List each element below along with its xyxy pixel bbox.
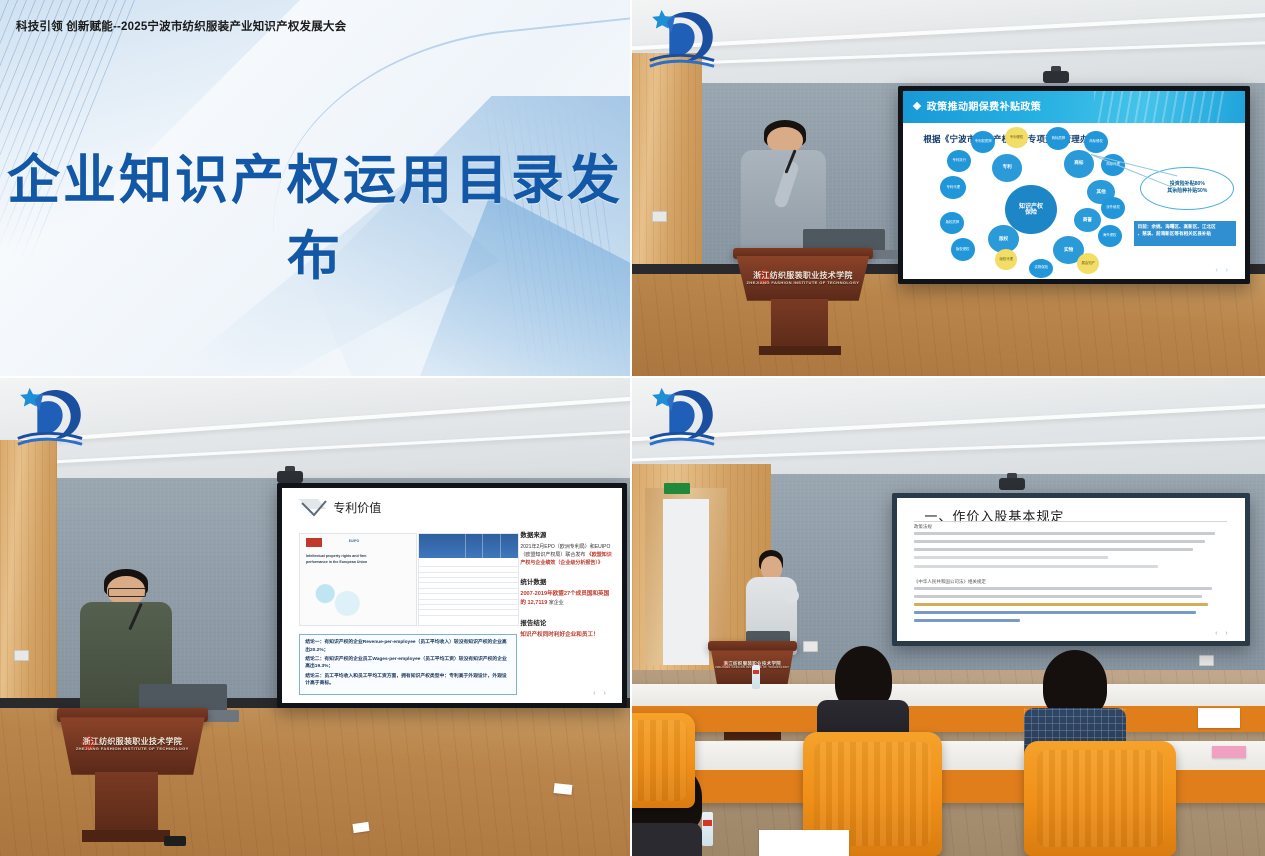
report-thumbnail-artwork	[307, 578, 372, 620]
table-col-divider	[500, 534, 501, 557]
podium-stem	[95, 772, 158, 834]
report-thumbnail-caption: Intellectual property rights and firm pe…	[306, 554, 378, 565]
text-line	[914, 548, 1193, 551]
slide-body-block-2	[914, 587, 1227, 627]
wall-socket	[14, 650, 29, 661]
mindmap-leaf-node-alt: 专利侵权	[1005, 127, 1027, 148]
photo-collage: 科技引领 创新赋能--2025宁波市纺织服装产业知识产权发展大会 企业知识产权运…	[0, 0, 1265, 856]
panel-photo-speaker-patent-value: 专利价值 EUIPO Intellectual property rights …	[0, 378, 632, 856]
zjfit-logo-icon	[642, 4, 720, 76]
projection-screen-frame: 专利价值 EUIPO Intellectual property rights …	[277, 483, 627, 708]
open-door-gap	[663, 499, 709, 665]
projection-screen: 一、作价入股基本规定 政策法规 《中华人民共和国公司法》相关规定	[897, 498, 1245, 641]
doorway	[645, 488, 727, 665]
podium-base	[724, 732, 781, 741]
text-line	[914, 540, 1205, 543]
slide-pager[interactable]: ‹ ›	[593, 690, 609, 697]
mindmap-leaf-node: 海外侵权	[1098, 225, 1122, 248]
text-line	[914, 565, 1158, 568]
podium-name-cn: 浙江纺织服装职业技术学院	[753, 271, 853, 280]
podium-base	[759, 346, 841, 355]
text-line	[914, 532, 1215, 535]
ceiling	[632, 0, 1265, 90]
projection-screen: 专利价值 EUIPO Intellectual property rights …	[282, 488, 622, 703]
callout-line-2: 其余险种补贴50%	[1167, 188, 1207, 196]
exit-sign	[664, 483, 690, 494]
ceiling-projector	[277, 471, 303, 483]
zjfit-logo-icon	[642, 382, 720, 454]
wood-wall-panel	[632, 53, 702, 279]
mindmap-leaf-node: 专利代理	[940, 176, 966, 199]
table-header	[419, 534, 518, 557]
podium-front: 浙江纺织服装职业技术学院 ZHEJIANG FASHION INSTITUTE …	[60, 717, 205, 774]
mindmap-leaf-node: 版权侵权	[951, 238, 975, 261]
text-line	[914, 587, 1212, 590]
conclusions-box: 结论一：有知识产权的企业Revenue-per-employee（员工平均收入）…	[299, 634, 517, 695]
mindmap-leaf-node: 专利权质押	[971, 131, 995, 154]
section-body-conclusion: 知识产权同时利好企业和员工！	[520, 631, 612, 640]
subsidy-callout: 投资险补贴80% 其余险种补贴50%	[1140, 167, 1234, 210]
conference-table-back	[632, 684, 1265, 732]
podium-name-cn: 浙江纺织服装职业技术学院	[82, 737, 182, 746]
report-data-table	[418, 533, 519, 625]
table-row	[419, 610, 518, 616]
text-line-highlight	[914, 619, 1021, 622]
podium-base	[82, 830, 170, 842]
mindmap-leaf-node: 商标质押	[1046, 127, 1070, 150]
conference-room-scene-3: 一、作价入股基本规定 政策法规 《中华人民共和国公司法》相关规定	[632, 378, 1265, 856]
table-col-divider	[482, 534, 483, 557]
podium-name-en: ZHEJIANG FASHION INSTITUTE OF TECHNOLOGY	[60, 747, 205, 752]
epo-logo-icon	[306, 538, 322, 547]
mindmap-leaf-node: 涉外维权	[1101, 197, 1125, 220]
podium-front: 浙江纺织服装职业技术学院 ZHEJIANG FASHION INSTITUTE …	[736, 256, 869, 301]
text-line-highlight	[914, 611, 1196, 614]
conclusion-2: 结论二：有知识产权的企业员工Wages-per-employee（员工平均工资）…	[305, 656, 511, 671]
projection-screen: 政策推动期保费补贴政策 根据《宁波市知识产权战略专项资金管理办法》 知识产权保险…	[903, 91, 1245, 279]
podium-top	[708, 641, 797, 652]
zjfit-logo-icon	[10, 382, 88, 454]
page-title: 企业知识产权运用目录发布	[0, 138, 630, 290]
ceiling	[0, 378, 630, 488]
podium-stem	[771, 299, 828, 352]
slide-right-column: 数据来源 2021年2月EPO（欧洲专利局）和EUIPO（欧盟知识产权局）联合发…	[520, 529, 612, 649]
slide-subhead-2: 《中华人民共和国公司法》相关规定	[914, 579, 986, 585]
mindmap-leaf-node: 商标侵权	[1084, 131, 1108, 154]
slide-title: 专利价值	[333, 499, 381, 516]
slide-equity-rules: 一、作价入股基本规定 政策法规 《中华人民共和国公司法》相关规定	[897, 498, 1245, 641]
conference-header-banner: 科技引领 创新赋能--2025宁波市纺织服装产业知识产权发展大会	[16, 18, 346, 34]
water-bottle	[752, 665, 760, 689]
slide-title: 政策推动期保费补贴政策	[927, 98, 1041, 113]
region-line-2: 、慈溪、前湾新区等有相关区县补贴	[1138, 231, 1233, 238]
conference-room-scene-1: 政策推动期保费补贴政策 根据《宁波市知识产权战略专项资金管理办法》 知识产权保险…	[632, 0, 1265, 376]
wood-wall-panel	[0, 440, 57, 712]
text-line	[914, 556, 1108, 559]
stats-plain: 家企业	[549, 600, 564, 606]
panel-photo-audience: 一、作价入股基本规定 政策法规 《中华人民共和国公司法》相关规定	[632, 378, 1265, 856]
conference-room-scene-2: 专利价值 EUIPO Intellectual property rights …	[0, 378, 630, 856]
floor	[632, 274, 1265, 376]
mindmap-leaf-node: 专利执行	[947, 150, 971, 173]
projection-screen-frame: 政策推动期保费补贴政策 根据《宁波市知识产权战略专项资金管理办法》 知识产权保险…	[898, 86, 1250, 284]
slide-title: 一、作价入股基本规定	[924, 506, 1064, 525]
mindmap-hub-node: 商誉	[1074, 208, 1101, 232]
podium-nameplate: 浙江纺织服装职业技术学院 ZHEJIANG FASHION INSTITUTE …	[736, 271, 869, 286]
slide-patent-value: 专利价值 EUIPO Intellectual property rights …	[282, 488, 622, 703]
table-document	[759, 830, 849, 856]
mindmap-hub-node: 专利	[992, 154, 1023, 182]
projection-screen-frame: 一、作价入股基本规定 政策法规 《中华人民共和国公司法》相关规定	[892, 493, 1250, 646]
panel-photo-speaker-policy: 政策推动期保费补贴政策 根据《宁波市知识产权战略专项资金管理办法》 知识产权保险…	[632, 0, 1265, 378]
mindmap-leaf-node-alt: 版权代理	[995, 249, 1017, 270]
conclusion-1: 结论一：有知识产权的企业Revenue-per-employee（员工平均收入）…	[305, 639, 511, 654]
section-heading-conclusion: 报告结论	[520, 617, 612, 627]
ceiling-projector	[999, 478, 1025, 490]
audience-chair	[1024, 741, 1176, 856]
podium-name-en: ZHEJIANG FASHION INSTITUTE OF TECHNOLOGY	[736, 281, 869, 286]
slide-pager[interactable]: ‹ ›	[1215, 267, 1231, 274]
table-document-pink	[1212, 746, 1246, 758]
glasses-icon	[108, 588, 146, 597]
panel-title-slide: 科技引领 创新赋能--2025宁波市纺织服装产业知识产权发展大会 企业知识产权运…	[0, 0, 632, 378]
euipo-logo-icon: EUIPO	[349, 539, 360, 543]
title-slide-background: 科技引领 创新赋能--2025宁波市纺织服装产业知识产权发展大会 企业知识产权运…	[0, 0, 630, 376]
audience-jacket	[632, 823, 702, 856]
floor-paper	[554, 783, 573, 795]
section-body-stats: 2007-2019年欧盟27个成员国和英国的 12,7119 家企业	[520, 590, 612, 608]
text-line	[914, 595, 1202, 598]
text-line-highlight	[914, 603, 1209, 606]
mindmap-hub-node: 商标	[1064, 150, 1095, 178]
ceiling-beam	[632, 402, 1265, 443]
power-strip	[164, 836, 186, 846]
slide-subhead-1: 政策法规	[914, 524, 932, 530]
slide-pager[interactable]: ‹ ›	[1215, 630, 1231, 637]
mindmap-leaf-node: 实物保险	[1029, 259, 1053, 278]
section-heading-source: 数据来源	[520, 529, 612, 539]
stats-highlight: 2007-2019年欧盟27个成员国和英国的 12,7119	[520, 591, 609, 606]
ceiling-beam	[0, 393, 632, 446]
section-heading-stats: 统计数据	[520, 576, 612, 586]
report-thumbnail: EUIPO Intellectual property rights and f…	[299, 533, 417, 625]
slide-body-block-1	[914, 532, 1227, 573]
mindmap-leaf-node: 版权质押	[940, 212, 964, 235]
ceiling-beam	[632, 435, 1265, 463]
table-col-divider	[465, 534, 466, 557]
mindmap-leaf-node-alt: 展会知产	[1077, 253, 1099, 274]
ceiling-projector	[1043, 71, 1069, 83]
slide-corner-mark-icon	[296, 495, 336, 529]
slide-title-rule	[914, 521, 1227, 522]
conclusion-highlight: 知识产权同时利好企业和员工！	[520, 632, 598, 638]
water-bottle	[702, 812, 713, 846]
table-top	[632, 684, 1265, 706]
conclusion-3: 结论三：员工平均收入和员工平均工资方面，拥有知识产权类型中：专利高于外观设计，外…	[305, 673, 511, 688]
podium-nameplate: 浙江纺织服装职业技术学院 ZHEJIANG FASHION INSTITUTE …	[60, 737, 205, 752]
region-subsidy-box: 目前：余姚、海曙区、高新区、江北区 、慈溪、前湾新区等有相关区县补贴	[1134, 221, 1237, 245]
audience-chair	[632, 713, 695, 809]
wall-socket	[652, 211, 667, 222]
section-body-source: 2021年2月EPO（欧洲专利局）和EUIPO（欧盟知识产权局）联合发布 《欧盟…	[520, 543, 612, 567]
speaker-head	[761, 556, 782, 579]
slide-policy-subsidy: 政策推动期保费补贴政策 根据《宁波市知识产权战略专项资金管理办法》 知识产权保险…	[903, 91, 1245, 279]
wall-socket	[1199, 655, 1214, 666]
table-document	[1198, 708, 1240, 728]
